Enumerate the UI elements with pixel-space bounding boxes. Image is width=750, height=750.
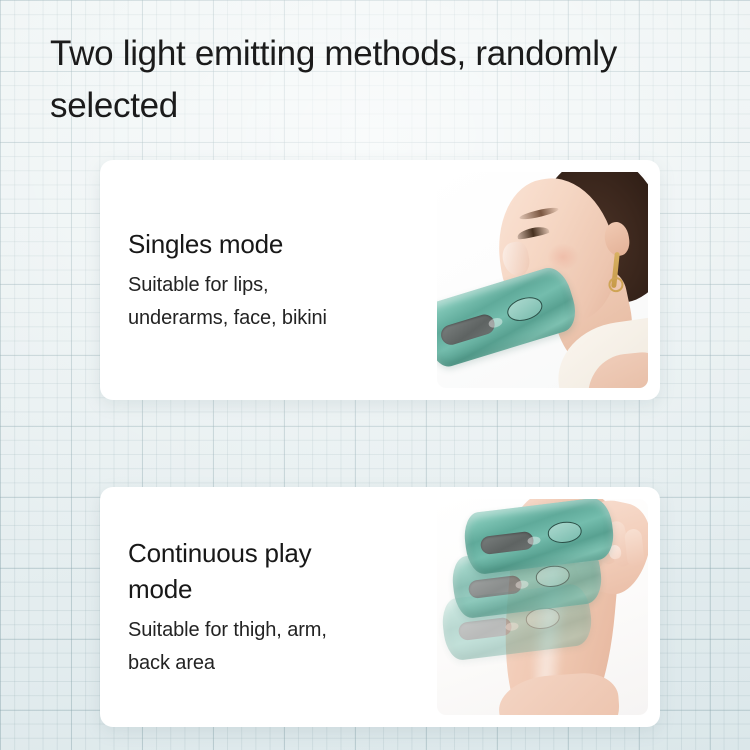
card-subtitle: Suitable for thigh, arm, back area [128,614,438,680]
photo-leg-with-devices [437,499,648,715]
card-title: Singles mode [128,226,438,262]
card-text-block: Singles mode Suitable for lips, underarm… [128,160,438,400]
photo-face-with-device [437,172,648,388]
device-window [467,575,522,600]
card-photo-singles-mode [437,172,648,388]
product-feature-page: Two light emitting methods, randomly sel… [0,0,750,750]
feature-card-continuous-play-mode[interactable]: Continuous play mode Suitable for thigh,… [100,487,660,727]
device-power-button [504,293,544,324]
card-subtitle: Suitable for lips, underarms, face, biki… [128,269,438,335]
card-title: Continuous play mode [128,535,438,607]
page-title: Two light emitting methods, randomly sel… [50,28,730,132]
device-window [457,617,512,642]
device-window [479,531,534,556]
device-power-button [535,564,572,589]
device-window [439,312,497,347]
card-photo-continuous-play-mode [437,499,648,715]
device-indicator-dot [527,536,541,546]
ipl-device-icon [437,263,581,371]
device-indicator-dot [505,622,519,632]
device-indicator-dot [515,580,529,590]
card-text-block: Continuous play mode Suitable for thigh,… [128,487,438,727]
device-power-button [547,520,584,545]
feature-card-singles-mode[interactable]: Singles mode Suitable for lips, underarm… [100,160,660,400]
